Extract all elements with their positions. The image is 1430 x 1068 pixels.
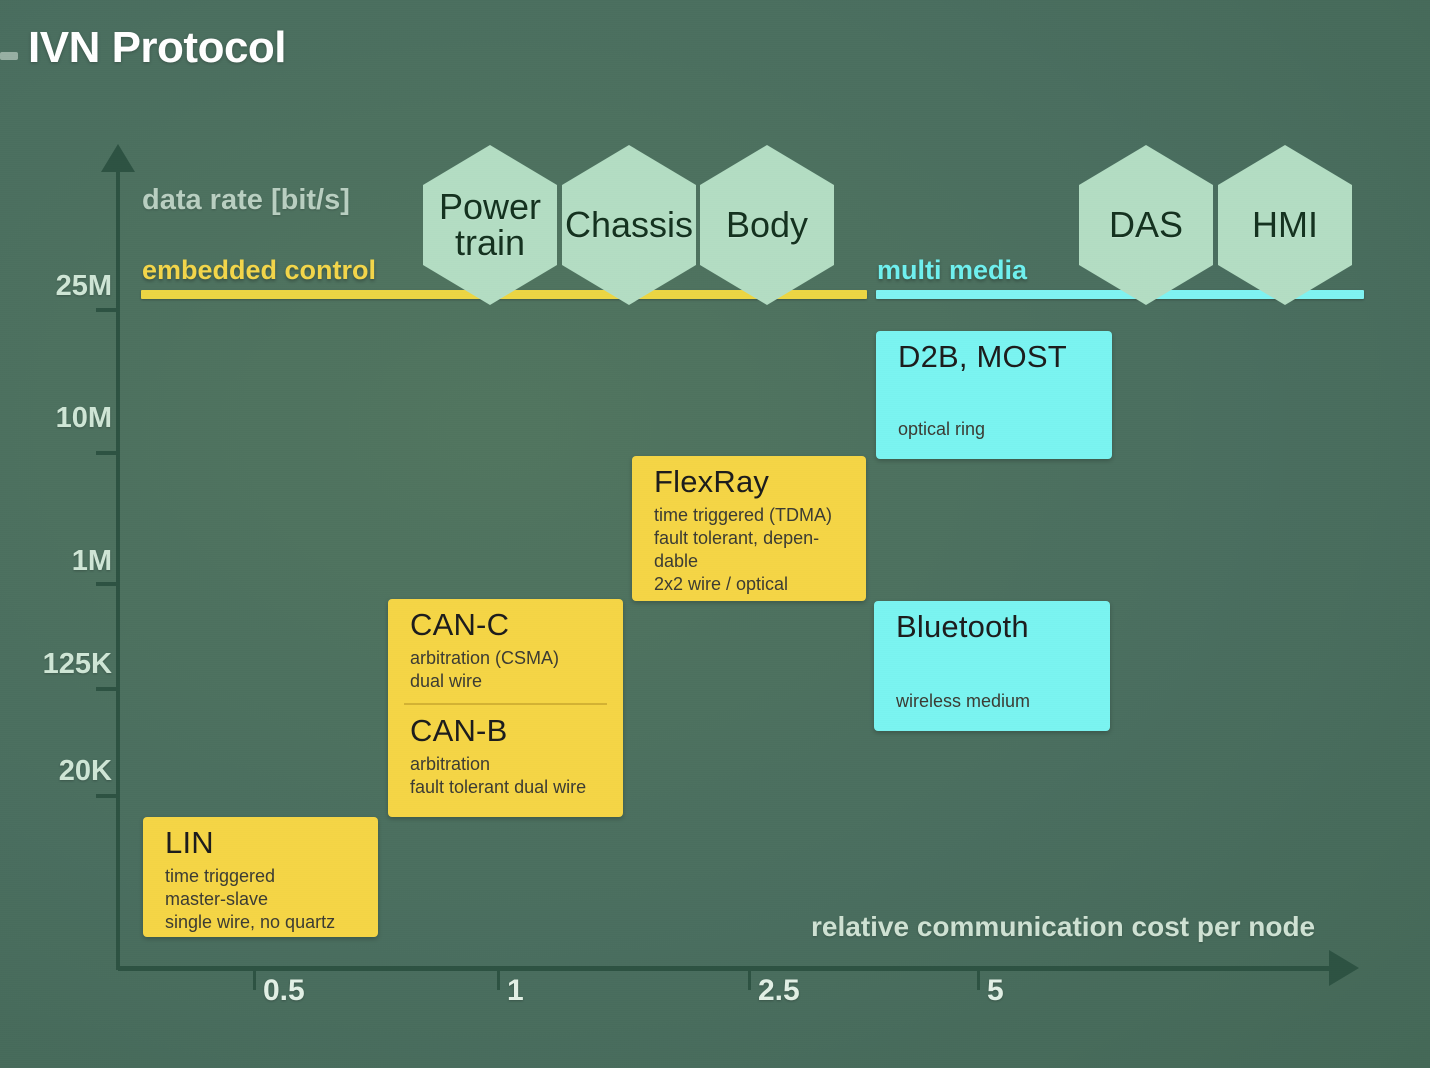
- y-tick-mark: [96, 687, 120, 691]
- card-detail-line: fault tolerant dual wire: [410, 776, 623, 799]
- card-detail-line: 2x2 wire / optical: [654, 573, 866, 596]
- y-axis-line: [116, 168, 120, 970]
- page-title: IVN Protocol: [28, 23, 286, 73]
- card-title: CAN-B: [388, 705, 623, 749]
- y-tick-mark: [96, 308, 120, 312]
- card-details: arbitration fault tolerant dual wire: [388, 749, 623, 799]
- hexagon-label: Chassis: [561, 207, 697, 243]
- card-section-can-c[interactable]: CAN-C arbitration (CSMA) dual wire: [388, 599, 623, 693]
- card-detail-line: time triggered (TDMA): [654, 504, 866, 527]
- x-tick-label-5: 5: [987, 974, 1004, 1008]
- card-title: LIN: [143, 817, 378, 861]
- card-title: CAN-C: [388, 599, 623, 643]
- card-title: FlexRay: [632, 456, 866, 500]
- y-tick-label-20k: 20K: [0, 755, 112, 788]
- slide-bullet-marker: [0, 52, 18, 60]
- x-axis-arrow-icon: [1329, 950, 1359, 986]
- card-details: time triggered (TDMA) fault tolerant, de…: [632, 500, 866, 596]
- hexagon-label-line2: train: [451, 222, 529, 263]
- x-tick-mark: [253, 966, 256, 990]
- hexagon-power-train[interactable]: Powertrain: [423, 145, 557, 305]
- band-label-embedded-control: embedded control: [142, 255, 376, 286]
- card-title: Bluetooth: [874, 601, 1110, 645]
- card-detail-line: wireless medium: [896, 690, 1030, 713]
- card-detail-line: single wire, no quartz: [165, 911, 378, 934]
- y-tick-mark: [96, 451, 120, 455]
- card-details: optical ring: [876, 418, 985, 441]
- hexagon-chassis[interactable]: Chassis: [562, 145, 696, 305]
- card-details: wireless medium: [874, 690, 1030, 713]
- x-axis-line: [118, 966, 1333, 971]
- card-can[interactable]: CAN-C arbitration (CSMA) dual wire CAN-B…: [388, 599, 623, 817]
- card-detail-line: arbitration (CSMA): [410, 647, 623, 670]
- y-tick-label-10m: 10M: [0, 402, 112, 435]
- y-tick-mark: [96, 794, 120, 798]
- card-lin[interactable]: LIN time triggered master-slave single w…: [143, 817, 378, 937]
- hexagon-label: Body: [722, 207, 812, 243]
- x-tick-label-05: 0.5: [263, 974, 305, 1008]
- card-detail-line: time triggered: [165, 865, 378, 888]
- card-detail-line: arbitration: [410, 753, 623, 776]
- hexagon-hmi[interactable]: HMI: [1218, 145, 1352, 305]
- card-flexray[interactable]: FlexRay time triggered (TDMA) fault tole…: [632, 456, 866, 601]
- card-section-can-b[interactable]: CAN-B arbitration fault tolerant dual wi…: [388, 705, 623, 799]
- card-detail-line: optical ring: [898, 418, 985, 441]
- hexagon-label: Powertrain: [431, 189, 549, 261]
- hexagon-das[interactable]: DAS: [1079, 145, 1213, 305]
- x-tick-mark: [497, 966, 500, 990]
- card-bluetooth[interactable]: Bluetooth wireless medium: [874, 601, 1110, 731]
- card-details: time triggered master-slave single wire,…: [143, 861, 378, 934]
- hexagon-label: DAS: [1105, 207, 1187, 243]
- card-detail-line: master-slave: [165, 888, 378, 911]
- x-tick-mark: [748, 966, 751, 990]
- card-d2b-most[interactable]: D2B, MOST optical ring: [876, 331, 1112, 459]
- slide-canvas: IVN Protocol data rate [bit/s] relative …: [0, 0, 1430, 1068]
- y-tick-label-125k: 125K: [0, 648, 112, 681]
- x-tick-mark: [977, 966, 980, 990]
- y-tick-label-1m: 1M: [0, 545, 112, 578]
- x-tick-label-1: 1: [507, 974, 524, 1008]
- card-detail-line: fault tolerant, depen-: [654, 527, 866, 550]
- x-tick-label-25: 2.5: [758, 974, 800, 1008]
- x-axis-title: relative communication cost per node: [811, 911, 1315, 943]
- card-detail-line: dable: [654, 550, 866, 573]
- band-label-multi-media: multi media: [877, 255, 1027, 286]
- card-details: arbitration (CSMA) dual wire: [388, 643, 623, 693]
- card-title: D2B, MOST: [876, 331, 1112, 375]
- y-tick-label-25m: 25M: [0, 270, 112, 303]
- hexagon-label-line1: Power: [435, 186, 545, 227]
- card-detail-line: dual wire: [410, 670, 623, 693]
- hexagon-body[interactable]: Body: [700, 145, 834, 305]
- hexagon-label: HMI: [1248, 207, 1322, 243]
- card-divider: [404, 703, 607, 705]
- y-tick-mark: [96, 582, 120, 586]
- y-axis-title: data rate [bit/s]: [142, 184, 350, 217]
